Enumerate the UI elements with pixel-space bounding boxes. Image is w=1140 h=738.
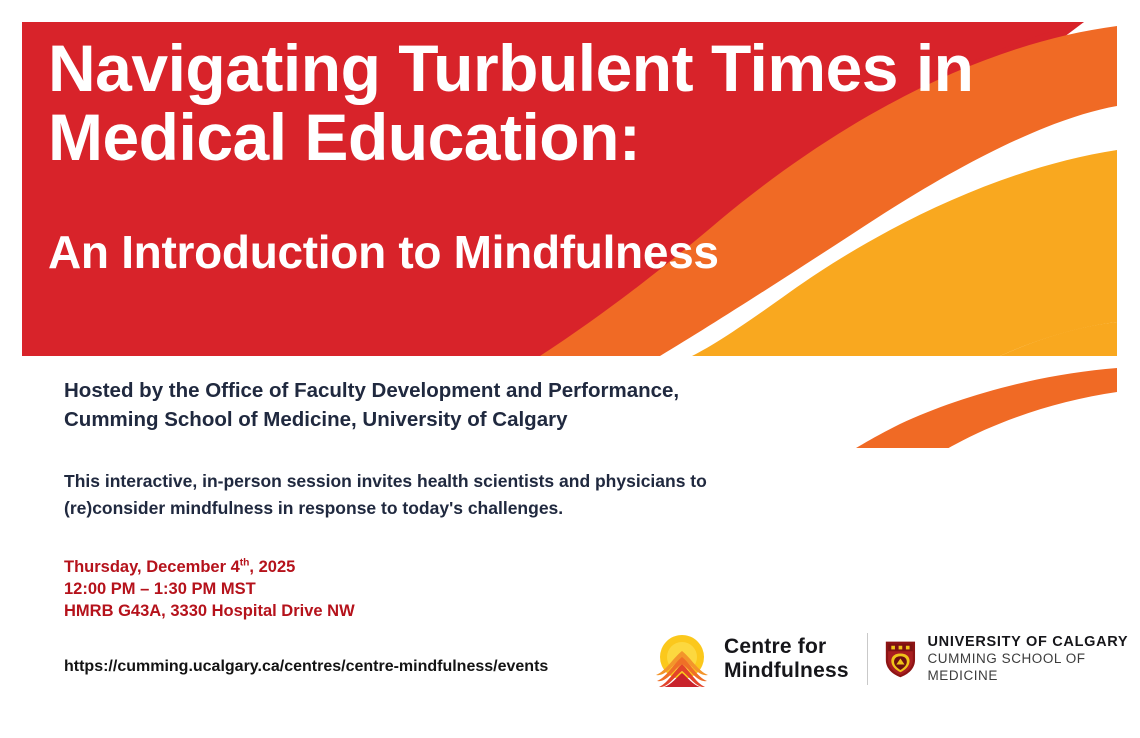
- centre-for-mindfulness-logo: Centre for Mindfulness: [652, 631, 849, 687]
- ucalgary-wordmark: UNIVERSITY OF CALGARY CUMMING SCHOOL OF …: [928, 634, 1140, 685]
- event-location: HMRB G43A, 3330 Hospital Drive NW: [64, 601, 894, 623]
- host-line-1: Hosted by the Office of Faculty Developm…: [64, 376, 894, 405]
- sun-mountain-icon: [652, 631, 712, 687]
- ucalgary-csm-logo: UNIVERSITY OF CALGARY CUMMING SCHOOL OF …: [884, 634, 1140, 685]
- session-description: This interactive, in-person session invi…: [64, 468, 764, 521]
- title-line-1: Navigating Turbulent Times in: [48, 34, 908, 103]
- event-date: Thursday, December 4th, 2025: [64, 557, 894, 579]
- logo-strip: Centre for Mindfulness UNIVERSITY: [652, 626, 1140, 692]
- host-line-2: Cumming School of Medicine, University o…: [64, 405, 894, 434]
- event-time: 12:00 PM – 1:30 PM MST: [64, 579, 894, 601]
- mindfulness-wordmark: Centre for Mindfulness: [724, 635, 849, 684]
- event-date-ordinal: th: [240, 558, 250, 569]
- event-date-prefix: Thursday, December 4: [64, 558, 240, 576]
- subtitle: An Introduction to Mindfulness: [48, 227, 908, 278]
- ucalgary-shield-icon: [884, 638, 917, 680]
- event-details: Thursday, December 4th, 2025 12:00 PM – …: [64, 557, 894, 622]
- mindfulness-wordmark-line-2: Mindfulness: [724, 659, 849, 683]
- ucalgary-wordmark-line-2: CUMMING SCHOOL OF MEDICINE: [928, 651, 1140, 684]
- logo-divider: [867, 633, 868, 685]
- title-block: Navigating Turbulent Times in Medical Ed…: [48, 34, 908, 277]
- event-poster: Navigating Turbulent Times in Medical Ed…: [0, 0, 1140, 738]
- ucalgary-wordmark-line-1: UNIVERSITY OF CALGARY: [928, 634, 1140, 652]
- mindfulness-wordmark-line-1: Centre for: [724, 635, 849, 659]
- event-date-suffix: , 2025: [249, 558, 295, 576]
- title-line-2: Medical Education:: [48, 103, 908, 172]
